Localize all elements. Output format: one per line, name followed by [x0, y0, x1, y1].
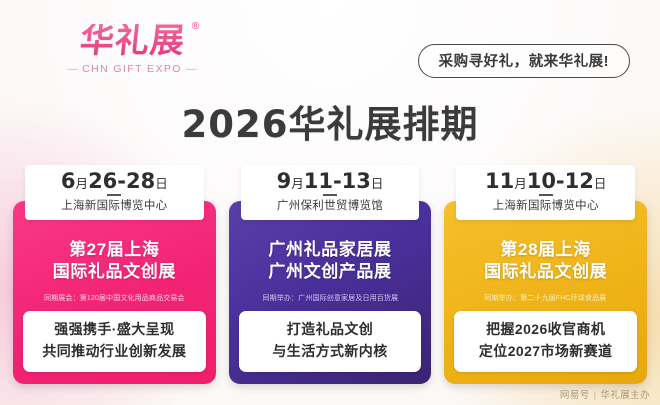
- logo-subtitle-text: CHN GIFT EXPO: [82, 63, 182, 75]
- date-days: 26-28: [88, 169, 155, 193]
- card-body: 第27届上海 国际礼品文创展 同期展会：第120届中国文化用品商品交易会 强强携…: [13, 201, 216, 384]
- date-range: 9月11-13日: [245, 170, 416, 192]
- event-title: 第27届上海 国际礼品文创展: [23, 239, 206, 284]
- logo-dash-left: —: [67, 63, 78, 75]
- date-days: 10-12: [527, 169, 594, 193]
- registered-trademark-icon: ®: [190, 22, 201, 32]
- slogan-box: 强强携手·盛大呈现 共同推动行业创新发展: [23, 311, 206, 371]
- date-divider: [107, 194, 121, 196]
- event-title-line1: 广州礼品家居展: [239, 239, 422, 261]
- schedule-card-guangzhou-september[interactable]: 9月11-13日 广州保利世贸博览馆 广州礼品家居展 广州文创产品展 同期举办：…: [229, 165, 432, 384]
- date-days: 11-13: [304, 169, 371, 193]
- brand-logo: 华礼展 ® — CHN GIFT EXPO —: [42, 24, 222, 75]
- slogan-line1: 把握2026收官商机: [458, 319, 633, 341]
- slogan-line2: 定位2027市场新赛道: [458, 341, 633, 363]
- card-body: 第28届上海 国际礼品文创展 同期举办：第二十九届FHC环球食品展 把握2026…: [444, 201, 647, 384]
- slogan-line1: 打造礼品文创: [243, 319, 418, 341]
- date-month: 11: [485, 169, 514, 193]
- event-title-line2: 国际礼品文创展: [23, 261, 206, 283]
- event-title: 第28届上海 国际礼品文创展: [454, 239, 637, 284]
- date-range: 6月26-28日: [29, 170, 200, 192]
- date-range: 11月10-12日: [460, 170, 631, 192]
- event-title-line1: 第28届上海: [454, 239, 637, 261]
- date-month: 6: [61, 169, 76, 193]
- date-month-unit: 月: [291, 176, 304, 191]
- venue-name: 上海新国际博览中心: [29, 197, 200, 213]
- watermark-source: 网易号: [560, 390, 590, 401]
- watermark-separator: |: [594, 390, 597, 401]
- tagline-pill: 采购寻好礼，就来华礼展!: [418, 44, 630, 78]
- logo-dash-right: —: [186, 63, 197, 75]
- date-divider: [539, 194, 553, 196]
- concurrent-event-note: 同期举办：第二十九届FHC环球食品展: [462, 293, 630, 303]
- slogan-box: 打造礼品文创 与生活方式新内核: [239, 311, 422, 371]
- card-body: 广州礼品家居展 广州文创产品展 同期举办：广州国际创意家居及日用百货展 打造礼品…: [229, 201, 432, 384]
- schedule-card-row: 6月26-28日 上海新国际博览中心 第27届上海 国际礼品文创展 同期展会：第…: [13, 165, 647, 384]
- slogan-box: 把握2026收官商机 定位2027市场新赛道: [454, 311, 637, 371]
- date-month: 9: [277, 169, 292, 193]
- event-title-line2: 国际礼品文创展: [454, 261, 637, 283]
- logo-wordmark: 华礼展 ®: [78, 24, 187, 58]
- date-header: 6月26-28日 上海新国际博览中心: [25, 165, 204, 220]
- poster-header: 华礼展 ® — CHN GIFT EXPO — 采购寻好礼，就来华礼展!: [0, 0, 660, 92]
- event-title-line2: 广州文创产品展: [239, 261, 422, 283]
- logo-wordmark-text: 华礼展: [77, 21, 186, 61]
- slogan-line2: 共同推动行业创新发展: [27, 341, 202, 363]
- event-title: 广州礼品家居展 广州文创产品展: [239, 239, 422, 284]
- date-day-unit: 日: [594, 176, 607, 191]
- date-month-unit: 月: [514, 176, 527, 191]
- poster-canvas: 华礼展 ® — CHN GIFT EXPO — 采购寻好礼，就来华礼展! 202…: [0, 0, 660, 405]
- event-title-line1: 第27届上海: [23, 239, 206, 261]
- slogan-line1: 强强携手·盛大呈现: [27, 319, 202, 341]
- concurrent-event-note: 同期展会：第120届中国文化用品商品交易会: [30, 293, 198, 303]
- date-day-unit: 日: [155, 176, 168, 191]
- date-header: 9月11-13日 广州保利世贸博览馆: [241, 165, 420, 220]
- schedule-card-shanghai-june[interactable]: 6月26-28日 上海新国际博览中心 第27届上海 国际礼品文创展 同期展会：第…: [13, 165, 216, 384]
- date-month-unit: 月: [76, 176, 89, 191]
- venue-name: 广州保利世贸博览馆: [245, 197, 416, 213]
- slogan-line2: 与生活方式新内核: [243, 341, 418, 363]
- date-day-unit: 日: [371, 176, 384, 191]
- schedule-card-shanghai-november[interactable]: 11月10-12日 上海新国际博览中心 第28届上海 国际礼品文创展 同期举办：…: [444, 165, 647, 384]
- venue-name: 上海新国际博览中心: [460, 197, 631, 213]
- date-divider: [323, 194, 337, 196]
- date-header: 11月10-12日 上海新国际博览中心: [456, 165, 635, 220]
- page-title: 2026华礼展排期: [0, 94, 660, 148]
- logo-subtitle: — CHN GIFT EXPO —: [42, 63, 222, 75]
- watermark-organizer: 华礼展主办: [600, 390, 650, 401]
- concurrent-event-note: 同期举办：广州国际创意家居及日用百货展: [246, 293, 414, 303]
- footer-watermark: 网易号|华礼展主办: [560, 387, 650, 401]
